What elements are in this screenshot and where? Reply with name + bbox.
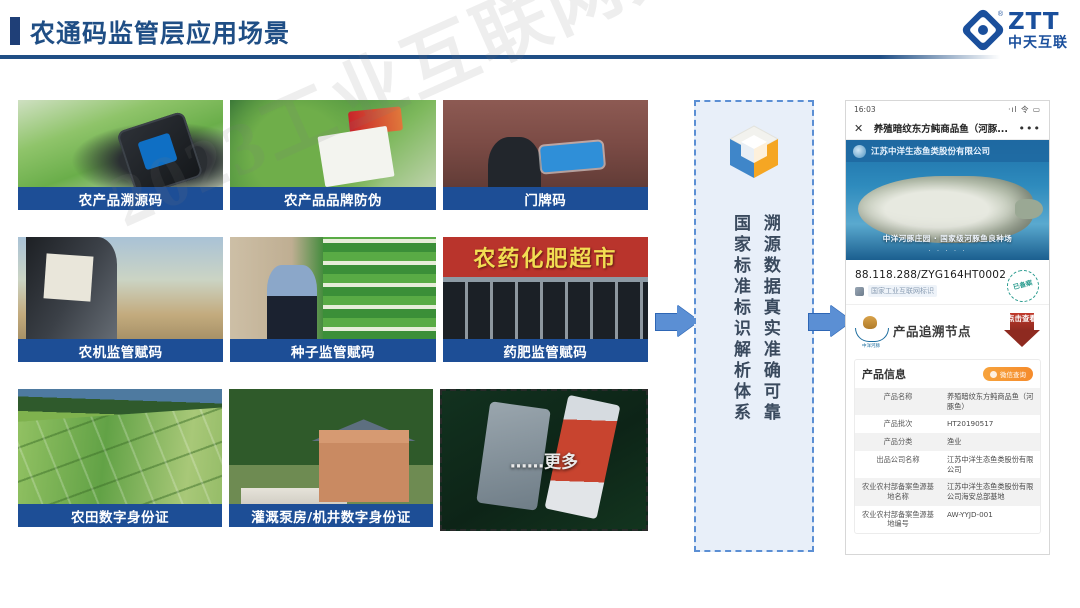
product-info-header: 产品信息 微信查询: [855, 360, 1040, 388]
company-avatar-icon: [853, 145, 866, 158]
info-key: 产品批次: [855, 415, 941, 433]
table-row: 产品批次HT20190517: [855, 415, 1040, 433]
identifier-tag-label: 国家工业互联网标识: [868, 285, 937, 297]
info-key: 出品公司名称: [855, 451, 941, 478]
info-value: 江苏中洋生态鱼类股份有限公司: [941, 451, 1040, 478]
registered-mark: ®: [998, 11, 1003, 18]
company-banner[interactable]: 江苏中洋生态鱼类股份有限公司: [846, 140, 1049, 162]
standard-system-panel: 溯源数据真实准确可靠 国家标准标识解析体系: [694, 100, 814, 552]
phone-mockup: 16:03 ·ıl 令 ▭ ✕ 养殖暗纹东方鲀商品鱼（河豚... ••• 江苏中…: [845, 100, 1050, 555]
wechat-query-chip[interactable]: 微信查询: [983, 367, 1033, 381]
card-caption: 农产品品牌防伪: [230, 187, 435, 210]
product-info-title: 产品信息: [862, 366, 906, 382]
arrow-to-standard-system-icon: [655, 305, 699, 337]
info-key: 产品分类: [855, 433, 941, 451]
scenario-card-grid: 农产品溯源码 农产品品牌防伪 门牌码 农机监管赋码 种子监管赋码: [18, 100, 648, 531]
card-brand-anti-counterfeit[interactable]: 农产品品牌防伪: [230, 100, 435, 210]
phone-page-title: 养殖暗纹东方鲀商品鱼（河豚...: [871, 121, 1010, 135]
panel-text-traceability: 溯源数据真实准确可靠: [760, 214, 778, 424]
table-row: 产品名称养殖暗纹东方鲀商品鱼（河豚鱼）: [855, 388, 1040, 415]
table-row: 农业农村部备案鱼源基地名称江苏中洋生态鱼类股份有限公司海安总部基地: [855, 478, 1040, 505]
card-caption: 药肥监管赋码: [443, 339, 648, 362]
down-arrow-click-icon[interactable]: 点击查看: [1004, 313, 1040, 347]
storefront-sign-text: 农药化肥超市: [443, 240, 648, 275]
wechat-query-label: 微信查询: [1000, 369, 1026, 379]
card-pesticide-fertilizer-code[interactable]: 农药化肥超市 药肥监管赋码: [443, 237, 648, 362]
product-info-card: 产品信息 微信查询 产品名称养殖暗纹东方鲀商品鱼（河豚鱼）产品批次HT20190…: [854, 359, 1041, 534]
3d-cube-identifier-icon: [723, 122, 785, 184]
product-info-table: 产品名称养殖暗纹东方鲀商品鱼（河豚鱼）产品批次HT20190517产品分类渔业出…: [855, 388, 1040, 533]
company-name: 江苏中洋生态鱼类股份有限公司: [871, 145, 990, 157]
page-title: 农通码监管层应用场景: [30, 14, 290, 50]
info-key: 产品名称: [855, 388, 941, 415]
info-value: 养殖暗纹东方鲀商品鱼（河豚鱼）: [941, 388, 1040, 415]
phone-nav-bar: ✕ 养殖暗纹东方鲀商品鱼（河豚... •••: [846, 117, 1049, 140]
trace-node-title: 产品追溯节点: [893, 321, 971, 340]
national-identifier-badge-icon: [855, 287, 864, 296]
slide-header: 农通码监管层应用场景 ® ZTT 中天互联: [0, 0, 1080, 60]
info-key: 农业农村部备案鱼源基地编号: [855, 506, 941, 533]
card-caption: 农产品溯源码: [18, 187, 223, 210]
table-row: 出品公司名称江苏中洋生态鱼类股份有限公司: [855, 451, 1040, 478]
card-row-2: 农机监管赋码 种子监管赋码 农药化肥超市 药肥监管赋码: [18, 237, 648, 362]
card-row-1: 农产品溯源码 农产品品牌防伪 门牌码: [18, 100, 648, 210]
identifier-block: 88.118.288/ZYG164HT0002 国家工业互联网标识 已备案: [846, 260, 1049, 305]
close-x-icon[interactable]: ✕: [854, 122, 863, 135]
logo-brand-cn: 中天互联: [1008, 36, 1068, 50]
status-signal-icons: ·ıl 令 ▭: [1008, 104, 1041, 115]
card-agri-traceability-code[interactable]: 农产品溯源码: [18, 100, 223, 210]
trace-node-bar[interactable]: 中洋河豚 产品追溯节点 点击查看: [846, 305, 1049, 355]
hero-caption: 中洋河豚庄园 · 国家级河豚鱼良种场: [846, 233, 1049, 244]
info-value: AW-YYJD-001: [941, 506, 1040, 533]
card-more[interactable]: ……更多: [440, 389, 648, 531]
panel-text-national-standard: 国家标准标识解析体系: [730, 214, 748, 424]
card-farmland-digital-id[interactable]: 农田数字身份证: [18, 389, 222, 527]
table-row: 农业农村部备案鱼源基地编号AW-YYJD-001: [855, 506, 1040, 533]
logo-brand-text: ZTT: [1008, 11, 1068, 34]
card-caption: 农机监管赋码: [18, 339, 223, 362]
header-divider: [0, 55, 1000, 59]
carousel-dots: · · · · ·: [846, 247, 1049, 255]
card-row-3: 农田数字身份证 灌溉泵房/机井数字身份证 ……更多: [18, 389, 648, 531]
card-agri-machinery-code[interactable]: 农机监管赋码: [18, 237, 223, 362]
product-hero-image: 江苏中洋生态鱼类股份有限公司 中洋河豚庄园 · 国家级河豚鱼良种场 · · · …: [846, 140, 1049, 260]
info-key: 农业农村部备案鱼源基地名称: [855, 478, 941, 505]
more-dots-icon[interactable]: •••: [1019, 122, 1041, 135]
status-time: 16:03: [854, 105, 876, 114]
ztt-diamond-logo-icon: ®: [964, 11, 1002, 49]
card-caption: 灌溉泵房/机井数字身份证: [229, 504, 433, 527]
card-pumphouse-digital-id[interactable]: 灌溉泵房/机井数字身份证: [229, 389, 433, 527]
info-value: HT20190517: [941, 415, 1040, 433]
card-caption: 种子监管赋码: [230, 339, 435, 362]
verify-chip-icon: [990, 371, 997, 378]
brand-icon-label: 中洋河豚: [855, 343, 887, 349]
down-arrow-label: 点击查看: [1004, 315, 1040, 323]
info-value: 渔业: [941, 433, 1040, 451]
info-value: 江苏中洋生态鱼类股份有限公司海安总部基地: [941, 478, 1040, 505]
zhongyang-hetun-brand-icon: 中洋河豚: [855, 316, 887, 344]
slide-root: 2023工业互联网大会 农通码监管层应用场景 ® ZTT 中天互联 农产品溯源码: [0, 0, 1080, 608]
card-caption: 门牌码: [443, 187, 648, 210]
more-label: ……更多: [442, 448, 646, 473]
card-caption: 农田数字身份证: [18, 504, 222, 527]
card-door-plate-code[interactable]: 门牌码: [443, 100, 648, 210]
table-row: 产品分类渔业: [855, 433, 1040, 451]
ztt-logo: ® ZTT 中天互联: [964, 8, 1068, 52]
phone-status-bar: 16:03 ·ıl 令 ▭: [846, 101, 1049, 117]
panel-vertical-texts: 溯源数据真实准确可靠 国家标准标识解析体系: [696, 214, 812, 424]
title-accent-bar: [10, 17, 20, 45]
card-seed-supervision-code[interactable]: 种子监管赋码: [230, 237, 435, 362]
